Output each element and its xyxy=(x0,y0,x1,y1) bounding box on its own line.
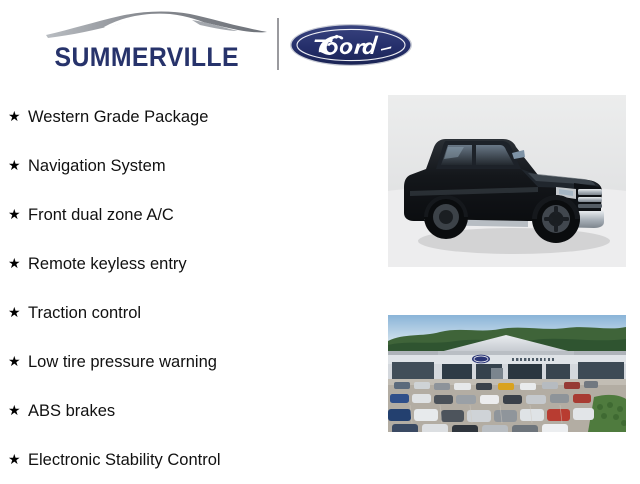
list-item: ★ Front dual zone A/C xyxy=(0,190,375,239)
feature-label: Remote keyless entry xyxy=(28,254,187,274)
feature-list: ★ Western Grade Package ★ Navigation Sys… xyxy=(0,92,375,484)
list-item: ★ ABS brakes xyxy=(0,386,375,435)
logo-divider xyxy=(277,18,279,70)
ford-oval-logo xyxy=(289,23,413,67)
feature-label: Navigation System xyxy=(28,156,166,176)
list-item: ★ Low tire pressure warning xyxy=(0,337,375,386)
feature-label: Traction control xyxy=(28,303,141,323)
star-bullet-icon: ★ xyxy=(8,306,28,320)
summerville-brand-block: SUMMERVILLE xyxy=(40,6,272,76)
star-bullet-icon: ★ xyxy=(8,404,28,418)
star-bullet-icon: ★ xyxy=(8,257,28,271)
list-item: ★ Western Grade Package xyxy=(0,92,375,141)
dealership-photo xyxy=(388,315,626,432)
feature-label: Electronic Stability Control xyxy=(28,450,221,470)
list-item: ★ Traction control xyxy=(0,288,375,337)
star-bullet-icon: ★ xyxy=(8,208,28,222)
car-silhouette-icon xyxy=(42,8,270,42)
list-item: ★ Remote keyless entry xyxy=(0,239,375,288)
feature-label: Western Grade Package xyxy=(28,107,208,127)
dealer-name-text: SUMMERVILLE xyxy=(40,42,253,72)
list-item: ★ Electronic Stability Control xyxy=(0,435,375,484)
star-bullet-icon: ★ xyxy=(8,355,28,369)
star-bullet-icon: ★ xyxy=(8,453,28,467)
dealer-logo-lockup: SUMMERVILLE xyxy=(40,6,420,76)
feature-label: Front dual zone A/C xyxy=(28,205,174,225)
feature-label: Low tire pressure warning xyxy=(28,352,217,372)
vehicle-photo xyxy=(388,95,626,267)
slide-canvas: SUMMERVILLE xyxy=(0,0,640,480)
list-item: ★ Navigation System xyxy=(0,141,375,190)
feature-label: ABS brakes xyxy=(28,401,115,421)
star-bullet-icon: ★ xyxy=(8,110,28,124)
star-bullet-icon: ★ xyxy=(8,159,28,173)
